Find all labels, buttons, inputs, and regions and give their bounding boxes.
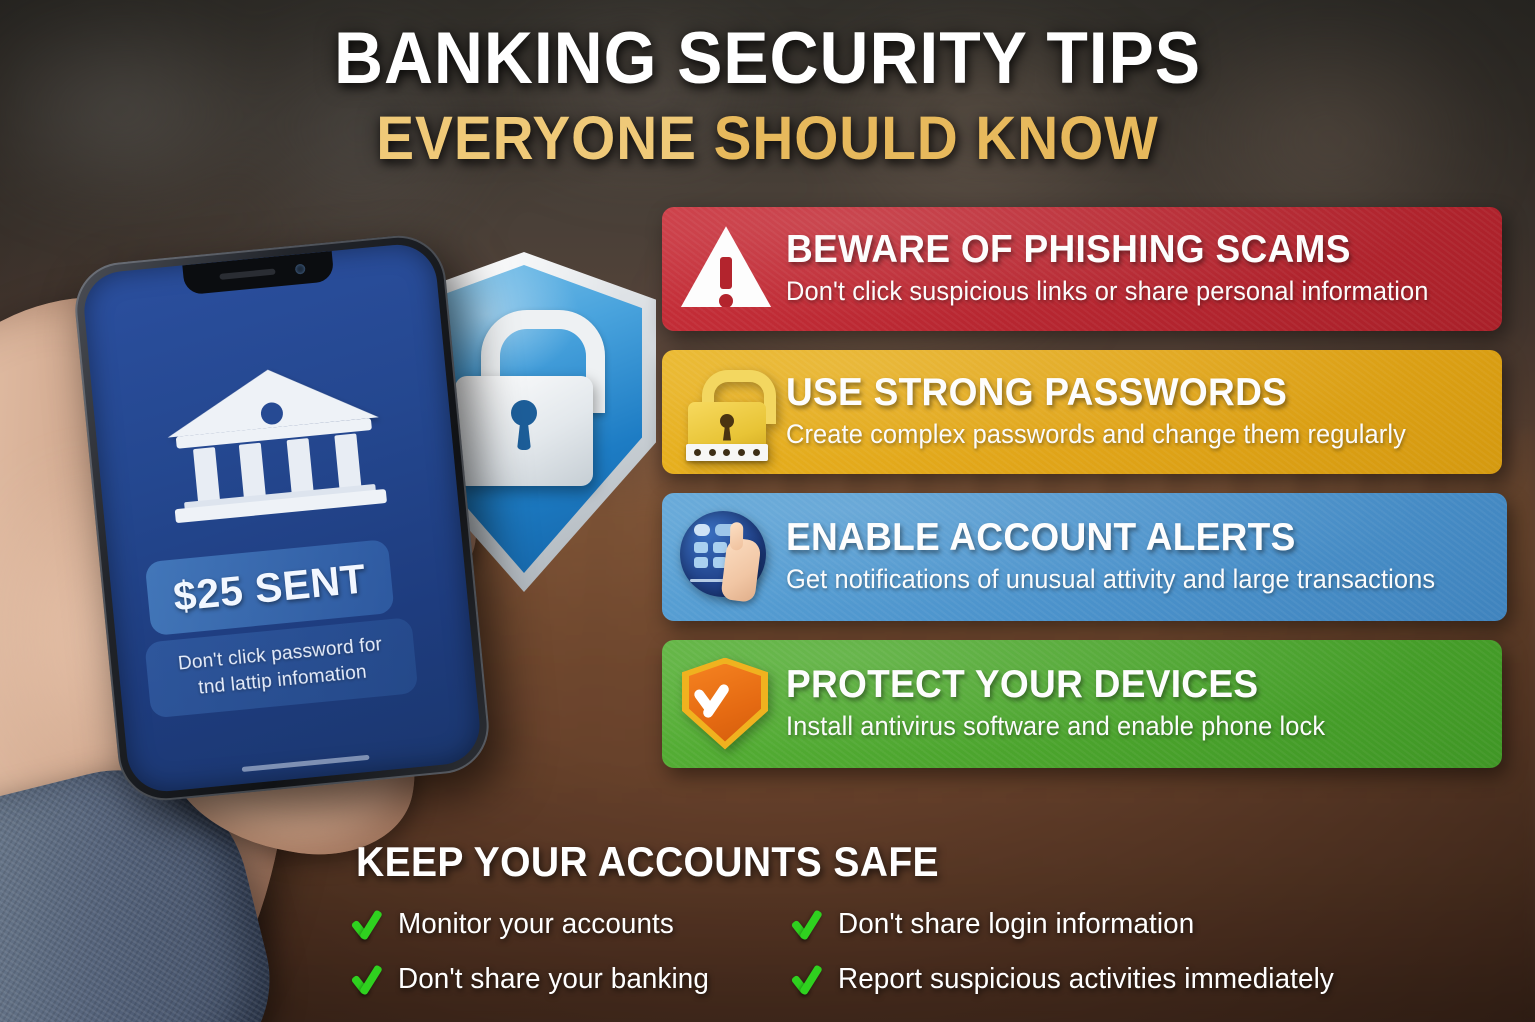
password-dot: [694, 449, 701, 456]
tip-card-devices[interactable]: PROTECT YOUR DEVICES Install antivirus s…: [662, 640, 1502, 768]
tip-title: ENABLE ACCOUNT ALERTS: [786, 518, 1456, 559]
shield-check-icon: [678, 656, 774, 752]
home-indicator: [242, 755, 370, 772]
tip-card-phishing[interactable]: BEWARE OF PHISHING SCAMS Don't click sus…: [662, 207, 1502, 331]
footer-section: KEEP YOUR ACCOUNTS SAFE Monitor your acc…: [356, 838, 1516, 996]
checklist-label: Report suspicious activities immediately: [838, 963, 1334, 996]
footer-heading: KEEP YOUR ACCOUNTS SAFE: [356, 838, 1435, 886]
keypad-key: [694, 542, 708, 553]
keypad-touch-icon: [678, 509, 774, 605]
phone-screen: $25 SENT Don't click password for tnd la…: [81, 241, 483, 795]
tip-card-passwords[interactable]: USE STRONG PASSWORDS Create complex pass…: [662, 350, 1502, 474]
password-dot: [738, 449, 745, 456]
checklist-item: Don't share login information: [796, 908, 1516, 941]
earpiece-speaker: [219, 269, 275, 280]
exclamation-bar: [720, 257, 732, 289]
checklist-item: Monitor your accounts: [356, 908, 786, 941]
checkmark: [697, 684, 751, 718]
page-title: BANKING SECURITY TIPS EVERYONE SHOULD KN…: [0, 22, 1535, 171]
password-dot: [709, 449, 716, 456]
title-highlight-word: EVERYONE: [376, 104, 697, 172]
title-rest: SHOULD KNOW: [697, 104, 1159, 172]
checklist-label: Don't share login information: [838, 908, 1194, 941]
password-dots-strip: [686, 444, 768, 461]
tip-card-alerts[interactable]: ENABLE ACCOUNT ALERTS Get notifications …: [662, 493, 1507, 621]
check-icon: [356, 910, 384, 940]
tip-description: Get notifications of unusual attivity an…: [786, 565, 1463, 595]
keypad-key: [694, 557, 708, 568]
bank-column: [287, 438, 314, 498]
checklist: Monitor your accounts Don't share login …: [356, 908, 1516, 996]
tips-list: BEWARE OF PHISHING SCAMS Don't click sus…: [662, 207, 1507, 787]
padlock-keyhole: [720, 414, 734, 428]
check-icon: [356, 965, 384, 995]
keypad-shape: [680, 511, 772, 603]
amount-sent-label: $25 SENT: [171, 555, 368, 620]
title-line-2: EVERYONE SHOULD KNOW: [54, 106, 1482, 170]
infographic-canvas: $25 SENT Don't click password for tnd la…: [0, 0, 1535, 1022]
bank-column: [239, 443, 266, 503]
shield-check-shape: [682, 658, 768, 750]
keypad-screen-left: [694, 524, 710, 536]
phone-notch: [182, 251, 334, 295]
exclamation-dot: [719, 294, 733, 308]
tip-description: Don't click suspicious links or share pe…: [786, 277, 1458, 307]
tip-text: BEWARE OF PHISHING SCAMS Don't click sus…: [786, 230, 1486, 307]
tip-text: USE STRONG PASSWORDS Create complex pass…: [786, 373, 1486, 450]
bank-column: [193, 447, 220, 507]
tip-title: BEWARE OF PHISHING SCAMS: [786, 230, 1451, 271]
tip-description: Create complex passwords and change them…: [786, 420, 1458, 450]
check-icon: [796, 965, 824, 995]
password-dot: [753, 449, 760, 456]
keypad-key: [713, 542, 727, 553]
check-icon: [796, 910, 824, 940]
padlock-body: [688, 402, 766, 448]
bank-column: [334, 433, 361, 493]
tip-description: Install antivirus software and enable ph…: [786, 712, 1458, 742]
checklist-label: Don't share your banking: [398, 963, 709, 996]
padlock-body: [455, 376, 593, 486]
checklist-item: Report suspicious activities immediately: [796, 963, 1516, 996]
tip-text: ENABLE ACCOUNT ALERTS Get notifications …: [786, 518, 1491, 595]
pointing-finger: [720, 537, 761, 603]
tip-title: PROTECT YOUR DEVICES: [786, 665, 1451, 706]
checklist-item: Don't share your banking: [356, 963, 786, 996]
smartphone: $25 SENT Don't click password for tnd la…: [71, 231, 493, 804]
password-dot: [723, 449, 730, 456]
warning-triangle-icon: [678, 221, 774, 317]
checklist-label: Monitor your accounts: [398, 908, 674, 941]
bank-building-icon: [162, 360, 388, 532]
tip-title: USE STRONG PASSWORDS: [786, 373, 1451, 414]
tip-text: PROTECT YOUR DEVICES Install antivirus s…: [786, 665, 1486, 742]
front-camera: [295, 264, 306, 275]
padlock-shape: [684, 370, 770, 458]
warning-triangle-shape: [680, 225, 772, 311]
padlock-keyhole: [511, 400, 537, 426]
padlock-icon: [678, 364, 774, 460]
title-line-1: BANKING SECURITY TIPS: [54, 22, 1482, 96]
